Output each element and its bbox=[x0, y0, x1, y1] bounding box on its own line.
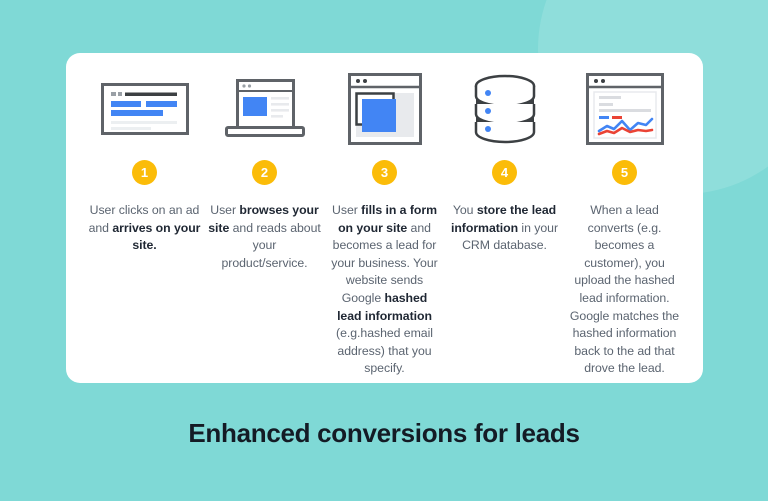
icon-slot-3 bbox=[328, 67, 441, 151]
step-badge-3: 3 bbox=[372, 160, 397, 185]
icon-slot-5 bbox=[568, 67, 681, 151]
icon-slot-1 bbox=[88, 67, 201, 151]
web-form-icon bbox=[348, 73, 422, 145]
step-text-5: When a lead converts (e.g. becomes a cus… bbox=[568, 202, 681, 378]
step-badge-4: 4 bbox=[492, 160, 517, 185]
step-badge-5: 5 bbox=[612, 160, 637, 185]
step-column-3: 3 User fills in a form on your site and … bbox=[328, 67, 441, 383]
step-column-2: 2 User browses your site and reads about… bbox=[208, 67, 321, 383]
step-column-4: 4 You store the lead information in your… bbox=[448, 67, 561, 383]
search-ad-result-icon bbox=[101, 83, 189, 135]
step-column-1: 1 User clicks on an ad and arrives on yo… bbox=[88, 67, 201, 383]
laptop-browsing-icon bbox=[225, 78, 305, 140]
page-title: Enhanced conversions for leads bbox=[0, 418, 768, 449]
step-text-2: User browses your site and reads about y… bbox=[208, 202, 321, 272]
steps-card: 1 User clicks on an ad and arrives on yo… bbox=[66, 53, 703, 383]
database-icon bbox=[473, 74, 537, 144]
icon-slot-2 bbox=[208, 67, 321, 151]
analytics-dashboard-icon bbox=[586, 73, 664, 145]
step-column-5: 5 When a lead converts (e.g. becomes a c… bbox=[568, 67, 681, 383]
step-text-1: User clicks on an ad and arrives on your… bbox=[88, 202, 201, 255]
step-text-4: You store the lead information in your C… bbox=[448, 202, 561, 255]
step-badge-2: 2 bbox=[252, 160, 277, 185]
step-text-3: User fills in a form on your site and be… bbox=[328, 202, 441, 378]
step-badge-1: 1 bbox=[132, 160, 157, 185]
icon-slot-4 bbox=[448, 67, 561, 151]
